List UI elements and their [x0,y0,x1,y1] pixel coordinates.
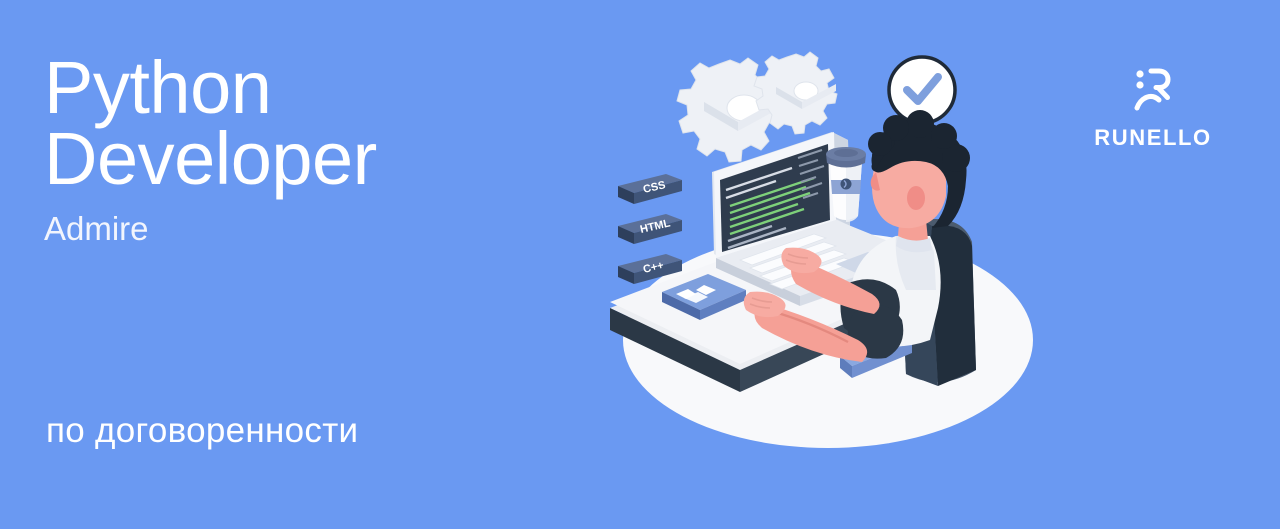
brand-logo: RUNELLO [1078,66,1228,151]
job-banner: Python Developer Admire по договоренност… [0,0,1280,529]
developer-illustration: CSS HTML C++ [600,40,1060,470]
brand-wordmark: RUNELLO [1078,125,1228,151]
job-text-block: Python Developer Admire [44,52,604,248]
runello-mark-icon [1078,66,1228,119]
tag-html: HTML [618,214,682,244]
tag-css: CSS [618,174,682,204]
page-title: Python Developer [44,52,604,194]
salary-text: по договоренности [46,411,358,451]
company-name: Admire [44,210,604,248]
